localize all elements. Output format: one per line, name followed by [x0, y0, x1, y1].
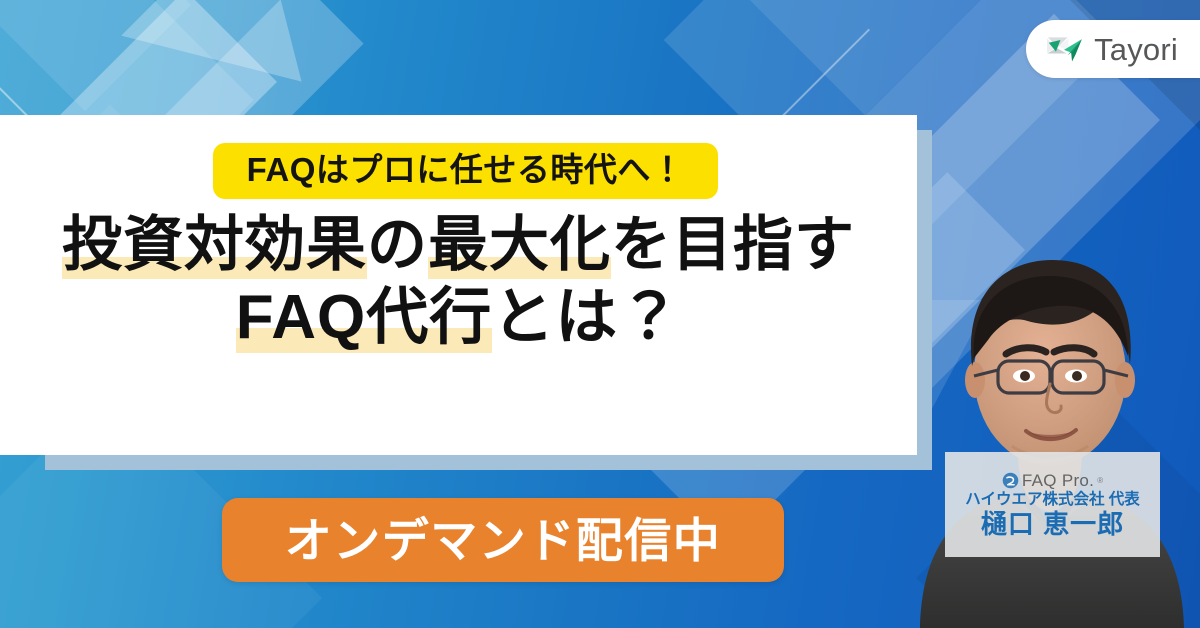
- tayori-logo[interactable]: Tayori: [1026, 20, 1200, 78]
- headline-line-1-plain-b: の: [367, 211, 428, 278]
- headline-line-2-highlight-a: FAQ代行: [236, 283, 492, 353]
- on-demand-cta-label: オンデマンド配信中: [285, 517, 722, 564]
- webinar-banner: FAQはプロに任せる時代へ！ 投資対効果の最大化を目指す FAQ代行とは？ オン…: [0, 0, 1200, 628]
- faq-pro-circle-icon: [1002, 472, 1019, 489]
- speaker-name: 樋口 恵一郎: [981, 510, 1124, 539]
- speaker-name-plate: FAQ Pro. ® ハイウエア株式会社 代表 樋口 恵一郎: [945, 452, 1160, 557]
- speaker-portrait: [900, 198, 1200, 628]
- on-demand-cta-button[interactable]: オンデマンド配信中: [222, 498, 784, 582]
- faq-pro-registered-mark: ®: [1097, 477, 1103, 485]
- faq-pro-logo-text: FAQ Pro.: [1022, 472, 1094, 489]
- headline-line-1-highlight-a: 投資対効果: [62, 211, 367, 279]
- page-title: 投資対効果の最大化を目指す FAQ代行とは？: [62, 211, 855, 354]
- headline-line-1-plain-d: を目指す: [611, 211, 855, 278]
- faq-pro-logo: FAQ Pro. ®: [1002, 472, 1103, 489]
- speaker-company: ハイウエア株式会社 代表: [965, 491, 1140, 508]
- paper-plane-envelope-icon: [1044, 32, 1084, 66]
- headline-line-2-plain-b: とは？: [492, 283, 681, 352]
- tagline-badge-label: FAQはプロに任せる時代へ！: [247, 151, 685, 188]
- tagline-badge: FAQはプロに任せる時代へ！: [213, 143, 719, 199]
- headline-line-1: 投資対効果の最大化を目指す: [62, 211, 855, 279]
- headline-line-2: FAQ代行とは？: [62, 283, 855, 354]
- headline-line-1-highlight-c: 最大化: [428, 211, 611, 279]
- content-card: FAQはプロに任せる時代へ！ 投資対効果の最大化を目指す FAQ代行とは？: [0, 115, 917, 455]
- tayori-logo-text: Tayori: [1094, 34, 1178, 65]
